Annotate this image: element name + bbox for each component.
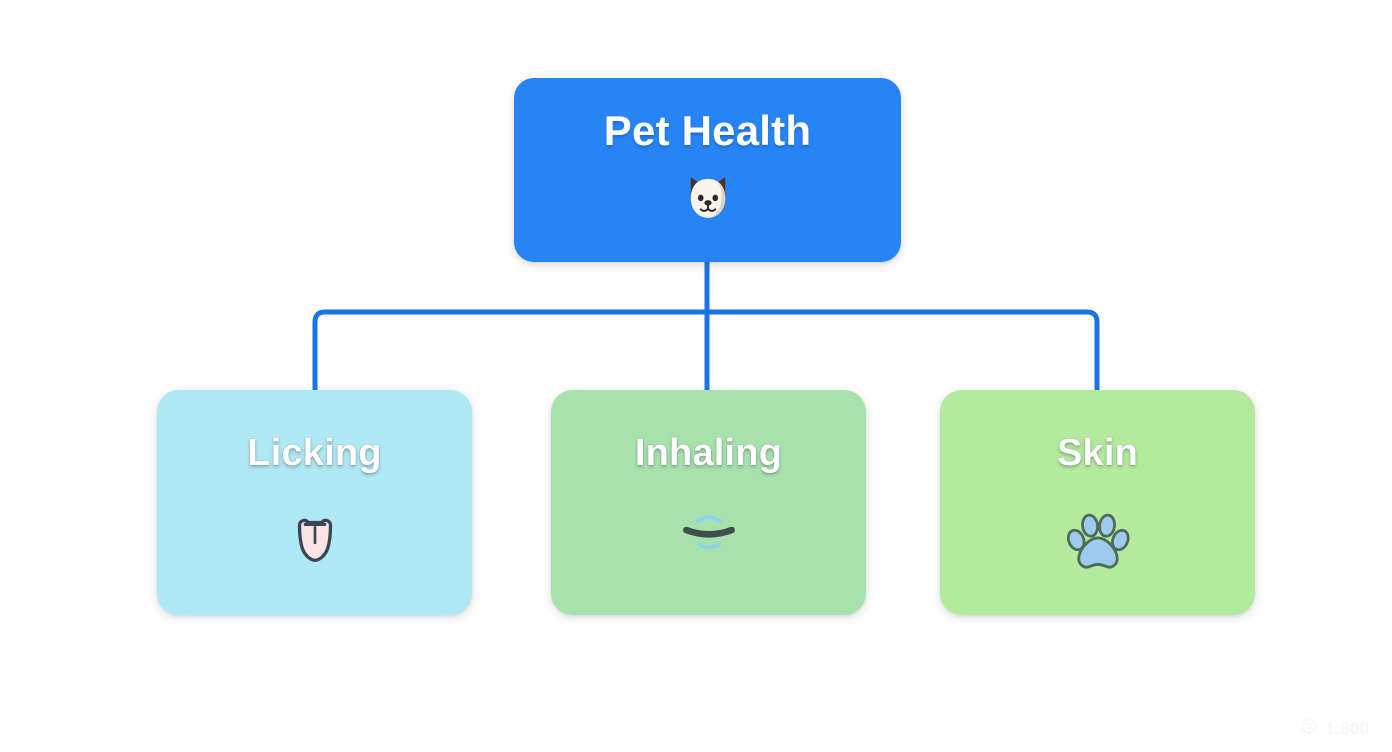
breathing-nose-icon <box>675 506 743 560</box>
watermark: 1:800 <box>1300 717 1370 740</box>
node-skin[interactable]: Skin <box>940 390 1255 615</box>
node-licking-label: Licking <box>247 434 381 472</box>
paw-print-icon <box>1064 506 1132 578</box>
node-skin-label: Skin <box>1057 434 1138 472</box>
brand-logo-icon <box>1300 717 1318 740</box>
dog-face-icon <box>679 168 737 230</box>
node-inhaling-label: Inhaling <box>635 434 782 472</box>
diagram-canvas: Pet Health Licking <box>0 0 1392 752</box>
tongue-icon <box>284 506 346 572</box>
connector-bus <box>315 312 1097 390</box>
node-inhaling[interactable]: Inhaling <box>551 390 866 615</box>
watermark-text: 1:800 <box>1325 719 1370 739</box>
node-licking[interactable]: Licking <box>157 390 472 615</box>
node-pet-health[interactable]: Pet Health <box>514 78 901 262</box>
node-pet-health-label: Pet Health <box>604 110 811 152</box>
